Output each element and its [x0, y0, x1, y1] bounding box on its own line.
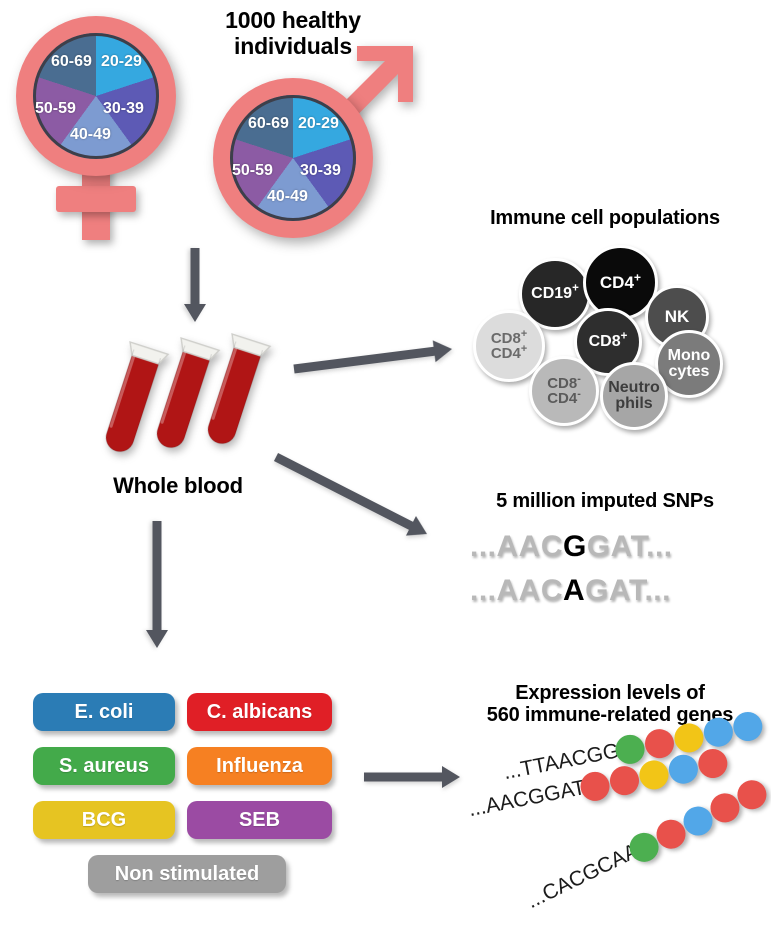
expression-bead: [731, 709, 765, 743]
expression-strands: ...TTAACGG...AACGGAT...CACGCAA: [0, 0, 771, 922]
expression-bead: [672, 721, 706, 755]
expression-bead: [701, 715, 735, 749]
expression-bead: [642, 727, 676, 761]
figure-canvas: 1000 healthy individuals 20-29 30-39 40-…: [0, 0, 771, 922]
nucleotide-sequence: ...CACGCAA: [523, 839, 643, 914]
